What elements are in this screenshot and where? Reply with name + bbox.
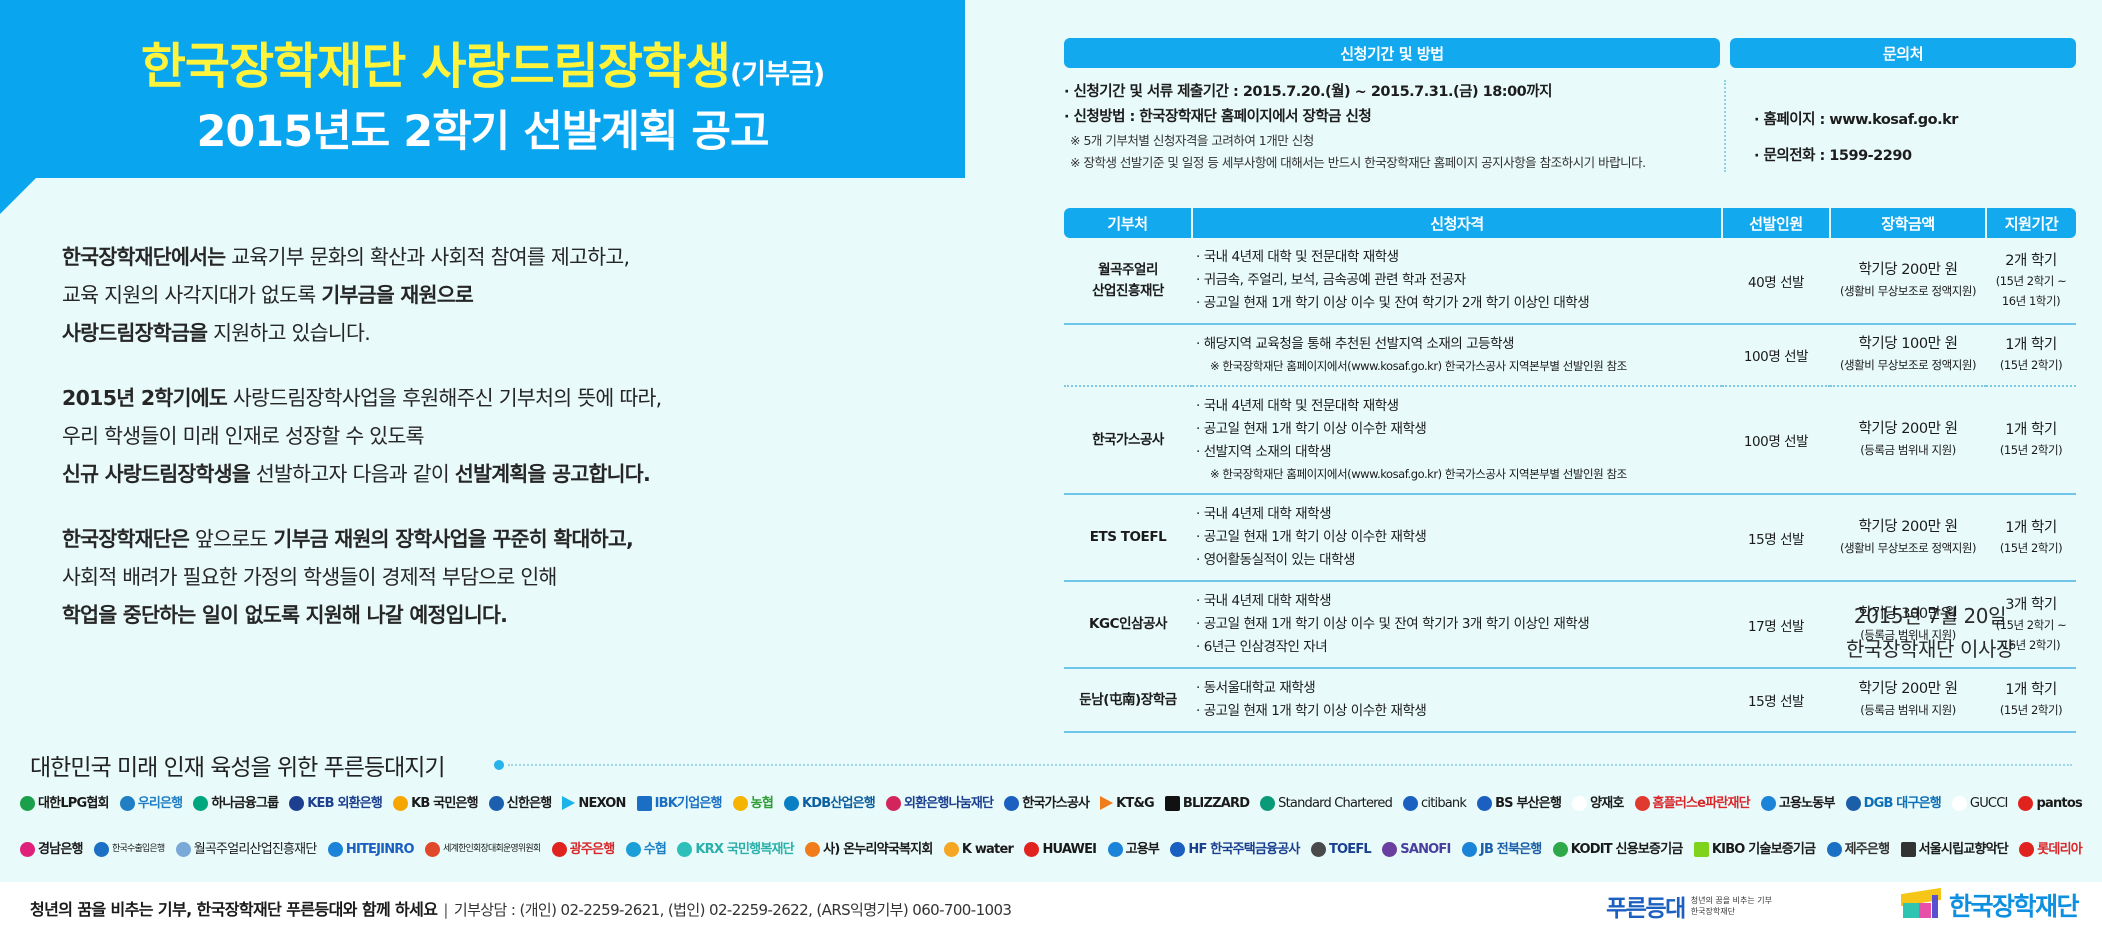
intro-span: 우리 학생들이 미래 인재로 성장할 수 있도록 [62,424,424,448]
sponsor-logo: KEB 외환은행 [289,796,382,811]
col-header-count: 선발인원 [1722,208,1830,238]
kosaf-brand-logo: 한국장학재단 [1901,887,2078,923]
sponsor-name: KIBO 기술보증기금 [1712,843,1815,856]
sponsor-mark-icon [176,842,191,857]
kosaf-wordmark: 한국장학재단 [1949,887,2078,923]
intro-span: 기부금을 재원으로 [321,283,473,307]
sponsor-name: HITEJINRO [346,843,414,856]
info-header-contact: 문의처 [1730,38,2076,68]
cell-donor: KGC인삼공사 [1064,581,1192,668]
title-main: 한국장학재단 사랑드림장학생 [141,38,730,95]
sponsor-logo: 고용노동부 [1761,796,1835,811]
sponsor-name: 대한LPG협회 [38,797,109,810]
title-banner: 한국장학재단 사랑드림장학생(기부금) 2015년도 2학기 선발계획 공고 [0,0,965,178]
amount-note: (등록금 범위내 지원) [1834,700,1982,721]
sponsor-logo: 하나금융그룹 [193,796,278,811]
sponsor-name: Standard Chartered [1278,797,1392,810]
sponsor-name: KB 국민은행 [411,797,478,810]
cell-count: 17명 선발 [1722,581,1830,668]
period-main: 2개 학기 [1990,251,2072,271]
sponsor-logo: HF 한국주택금융공사 [1170,842,1299,857]
sponsor-name: citibank [1421,797,1466,810]
sponsor-logo: Standard Chartered [1260,796,1392,811]
sponsor-logo: 롯데리아 [2019,842,2082,857]
intro-span: 사랑드림장학사업을 후원해주신 기부처의 뜻에 따라, [227,386,661,410]
sponsor-logo: 사) 온누리약국복지회 [805,842,932,857]
amount-main: 학기당 100만 원 [1834,334,1982,355]
intro-span: 선발하고자 다음과 같이 [250,462,455,486]
sponsor-logo: SANOFI [1382,842,1450,857]
sponsor-name: 고용부 [1126,843,1159,856]
sponsor-mark-icon [1901,842,1916,857]
sponsor-mark-icon [1846,796,1861,811]
sponsor-logo: citibank [1403,796,1466,811]
table-row: KGC인삼공사국내 4년제 대학 재학생공고일 현재 1개 학기 이상 이수 및… [1064,581,2076,668]
footer-text: 청년의 꿈을 비추는 기부, 한국장학재단 푸른등대와 함께 하세요|기부상담 … [30,896,1011,920]
sponsor-logo-row-2: 경남은행한국수출입은행월곡주얼리산업진흥재단HITEJINRO세계한인회장대회운… [20,832,2082,866]
intro-line: 2015년 2학기에도 사랑드림장학사업을 후원해주신 기부처의 뜻에 따라, [62,379,832,417]
sponsor-mark-icon [1165,796,1180,811]
cell-amount: 학기당 200만 원(생활비 무상보조로 정액지원) [1830,238,1986,324]
sponsor-mark-icon [1403,796,1418,811]
sponsor-logo: 수협 [626,842,666,857]
sponsor-name: K water [962,843,1013,856]
cell-donor: 한국가스공사 [1064,386,1192,494]
info-panel-body: · 신청기간 및 서류 제출기간 : 2015.7.20.(월) ~ 2015.… [1064,68,2076,174]
sponsor-name: 서울시립교향악단 [1919,843,2008,856]
sponsor-logo: 한국가스공사 [1004,796,1089,811]
title-line-2: 2015년도 2학기 선발계획 공고 [0,97,965,159]
sponsor-mark-icon [1952,796,1967,811]
sponsor-logo: HITEJINRO [328,842,414,857]
period-note: (15년 2학기) [1990,538,2072,558]
info-left-column: · 신청기간 및 서류 제출기간 : 2015.7.20.(월) ~ 2015.… [1064,80,1720,174]
footer-contact: 기부상담 : (개인) 02-2259-2621, (법인) 02-2259-2… [454,901,1011,919]
table-row: 해당지역 교육청을 통해 추천된 선발지역 소재의 고등학생한국장학재단 홈페이… [1064,324,2076,386]
qualification-item: 선발지역 소재의 대학생 [1196,441,1718,464]
qualification-item: 공고일 현재 1개 학기 이상 이수 및 잔여 학기가 2개 학기 이상인 대학… [1196,292,1718,315]
sponsor-name: IBK기업은행 [655,797,722,810]
intro-line: 학업을 중단하는 일이 없도록 지원해 나갈 예정입니다. [62,596,832,634]
sponsor-name: JB 전북은행 [1480,843,1542,856]
sponsor-name: 신한은행 [507,797,552,810]
cell-donor: 월곡주얼리산업진흥재단 [1064,238,1192,324]
amount-note: (생활비 무상보조로 정액지원) [1834,538,1982,559]
sponsor-logo: 고용부 [1108,842,1159,857]
sponsor-name: HF 한국주택금융공사 [1188,843,1299,856]
sponsor-mark-icon [1694,842,1709,857]
cell-qualification: 국내 4년제 대학 재학생공고일 현재 1개 학기 이상 이수 및 잔여 학기가… [1192,581,1722,668]
lighthouse-brand-logo: 푸른등대 청년의 꿈을 비추는 기부 한국장학재단 [1606,889,1772,923]
amount-note: (생활비 무상보조로 정액지원) [1834,281,1982,302]
intro-line: 우리 학생들이 미래 인재로 성장할 수 있도록 [62,417,832,455]
sponsor-bullet-dot [494,760,504,770]
period-note: (15년 2학기) [1990,700,2072,720]
sponsor-mark-icon [289,796,304,811]
info-note: ※ 장학생 선발기준 및 일정 등 세부사항에 대해서는 반드시 한국장학재단 … [1064,152,1708,174]
sponsor-name: TOEFL [1329,843,1371,856]
cell-qualification: 국내 4년제 대학 및 전문대학 재학생귀금속, 주얼리, 보석, 금속공예 관… [1192,238,1722,324]
sponsor-logo: 홈플러스e파란재단 [1635,796,1750,811]
col-header-qualification: 신청자격 [1192,208,1722,238]
sponsor-logo: GUCCI [1952,796,2008,811]
contact-line: · 홈페이지 : www.kosaf.go.kr [1754,102,2076,138]
sponsor-mark-icon [552,842,567,857]
sponsor-name: DGB 대구은행 [1864,797,1941,810]
cell-qualification: 해당지역 교육청을 통해 추천된 선발지역 소재의 고등학생한국장학재단 홈페이… [1192,324,1722,386]
cell-amount: 학기당 200만 원(생활비 무상보조로 정액지원) [1830,494,1986,581]
sponsor-name: 제주은행 [1845,843,1890,856]
cell-period: 1개 학기(15년 2학기) [1986,386,2076,494]
sponsor-mark-icon [193,796,208,811]
sponsor-mark-icon [944,842,959,857]
amount-note: (등록금 범위내 지원) [1834,440,1982,461]
intro-paragraph: 한국장학재단에서는 교육기부 문화의 확산과 사회적 참여를 제고하고,교육 지… [62,238,832,352]
period-note: (15년 2학기) [1990,440,2072,460]
qualification-item: 국내 4년제 대학 재학생 [1196,590,1718,613]
sponsor-mark-icon [489,796,504,811]
intro-span: 교육 지원의 사각지대가 없도록 [62,283,321,307]
sponsor-logo: KT&G [1100,796,1154,810]
footer-slogan: 청년의 꿈을 비추는 기부, 한국장학재단 푸른등대와 함께 하세요 [30,900,437,919]
qualification-item: 국내 4년제 대학 및 전문대학 재학생 [1196,246,1718,269]
sponsor-name: 수협 [644,843,666,856]
sponsor-logo: 대한LPG협회 [20,796,109,811]
sponsor-mark-icon [94,842,109,857]
period-note: (15년 2학기 ~ [1990,615,2072,635]
intro-text: 한국장학재단에서는 교육기부 문화의 확산과 사회적 참여를 제고하고,교육 지… [62,238,832,634]
sponsor-logo: DGB 대구은행 [1846,796,1941,811]
cell-count: 100명 선발 [1722,324,1830,386]
application-info-panel: 신청기간 및 방법 문의처 · 신청기간 및 서류 제출기간 : 2015.7.… [1064,38,2076,174]
intro-line: 신규 사랑드림장학생을 선발하고자 다음과 같이 선발계획을 공고합니다. [62,455,832,493]
footer-separator: | [437,901,453,919]
sponsor-mark-icon [1024,842,1039,857]
qualification-item: 영어활동실적이 있는 대학생 [1196,549,1718,572]
sponsor-mark-icon [1462,842,1477,857]
sponsor-name: 고용노동부 [1779,797,1835,810]
sponsor-logo: KDB산업은행 [784,796,875,811]
period-note: (15년 2학기) [1990,355,2072,375]
cell-period: 1개 학기(15년 2학기) [1986,494,2076,581]
sponsor-name: 양재호 [1590,797,1623,810]
period-main: 1개 학기 [1990,420,2072,440]
contact-line: · 문의전화 : 1599-2290 [1754,138,2076,174]
sponsor-mark-icon [1311,842,1326,857]
cell-period: 1개 학기(15년 2학기) [1986,668,2076,732]
intro-span: 한국장학재단은 [62,527,189,551]
cell-amount: 학기당 300만 원(등록금 범위내 지원) [1830,581,1986,668]
table-row: 한국가스공사국내 4년제 대학 및 전문대학 재학생공고일 현재 1개 학기 이… [1064,386,2076,494]
cell-donor: 둔남(屯南)장학금 [1064,668,1192,732]
table-header-row: 기부처 신청자격 선발인원 장학금액 지원기간 [1064,208,2076,238]
qualification-item: 공고일 현재 1개 학기 이상 이수한 재학생 [1196,700,1718,723]
sponsor-mark-icon [1100,796,1113,810]
qualification-item: 공고일 현재 1개 학기 이상 이수한 재학생 [1196,526,1718,549]
sponsor-mark-icon [626,842,641,857]
sponsor-logo: KODIT 신용보증기금 [1553,842,1683,857]
sponsor-mark-icon [805,842,820,857]
sponsor-mark-icon [1170,842,1185,857]
sponsor-logo: TOEFL [1311,842,1371,857]
qualification-item: 국내 4년제 대학 및 전문대학 재학생 [1196,395,1718,418]
col-header-period: 지원기간 [1986,208,2076,238]
intro-span: 학업을 중단하는 일이 없도록 지원해 나갈 예정입니다. [62,603,507,627]
sponsor-mark-icon [562,796,575,810]
sponsor-logo: IBK기업은행 [637,796,722,811]
sponsor-logo: KIBO 기술보증기금 [1694,842,1815,857]
sponsor-name: BLIZZARD [1183,797,1249,810]
sponsor-name: 우리은행 [138,797,183,810]
amount-main: 학기당 200만 원 [1834,419,1982,440]
intro-line: 교육 지원의 사각지대가 없도록 기부금을 재원으로 [62,276,832,314]
qualification-item: 해당지역 교육청을 통해 추천된 선발지역 소재의 고등학생 [1196,333,1718,356]
cell-period: 3개 학기(15년 2학기 ~16년 2학기) [1986,581,2076,668]
sponsor-name: SANOFI [1400,843,1450,856]
cell-qualification: 국내 4년제 대학 재학생공고일 현재 1개 학기 이상 이수한 재학생영어활동… [1192,494,1722,581]
sponsor-mark-icon [1260,796,1275,811]
table-body: 월곡주얼리산업진흥재단국내 4년제 대학 및 전문대학 재학생귀금속, 주얼리,… [1064,238,2076,732]
title-suffix: (기부금) [730,59,824,90]
sponsor-logo: 한국수출입은행 [94,842,164,857]
info-bullet: · 신청방법 : 한국장학재단 홈페이지에서 장학금 신청 [1064,105,1708,130]
cell-qualification: 국내 4년제 대학 및 전문대학 재학생공고일 현재 1개 학기 이상 이수한 … [1192,386,1722,494]
cell-period: 2개 학기(15년 2학기 ~16년 1학기) [1986,238,2076,324]
sponsor-logo: KB 국민은행 [393,796,478,811]
sponsor-logo: NEXON [562,796,625,810]
intro-line: 한국장학재단은 앞으로도 기부금 재원의 장학사업을 꾸준히 확대하고, [62,520,832,558]
intro-span: 기부금 재원의 장학사업을 꾸준히 확대하고, [273,527,633,551]
sponsor-mark-icon [886,796,901,811]
cell-qualification: 동서울대학교 재학생공고일 현재 1개 학기 이상 이수한 재학생 [1192,668,1722,732]
sponsor-heading: 대한민국 미래 인재 육성을 위한 푸른등대지기 [30,748,445,782]
sponsor-name: 외환은행나눔재단 [904,797,993,810]
amount-main: 학기당 200만 원 [1834,679,1982,700]
sponsor-mark-icon [2018,796,2033,811]
sponsor-mark-icon [20,842,35,857]
sponsor-section: 대한민국 미래 인재 육성을 위한 푸른등대지기 대한LPG협회우리은행하나금융… [0,742,2102,882]
sponsor-name: 한국수출입은행 [112,845,164,854]
col-header-amount: 장학금액 [1830,208,1986,238]
sponsor-name: 하나금융그룹 [211,797,278,810]
sponsor-dashed-rule [508,764,2072,766]
period-main: 1개 학기 [1990,680,2072,700]
sponsor-mark-icon [1827,842,1842,857]
info-panel-headers: 신청기간 및 방법 문의처 [1064,38,2076,68]
sponsor-name: 사) 온누리약국복지회 [823,843,932,856]
sponsor-mark-icon [120,796,135,811]
table-row: 월곡주얼리산업진흥재단국내 4년제 대학 및 전문대학 재학생귀금속, 주얼리,… [1064,238,2076,324]
donor-line: 월곡주얼리 [1068,260,1188,281]
info-right-column: · 홈페이지 : www.kosaf.go.kr· 문의전화 : 1599-22… [1730,80,2076,174]
sponsor-logo: BS 부산은행 [1477,796,1561,811]
sponsor-mark-icon [1004,796,1019,811]
sponsor-logo-row-1: 대한LPG협회우리은행하나금융그룹KEB 외환은행KB 국민은행신한은행NEXO… [20,786,2082,820]
sponsor-name: 롯데리아 [2037,843,2082,856]
period-main: 1개 학기 [1990,518,2072,538]
title-line-1: 한국장학재단 사랑드림장학생(기부금) [0,27,965,98]
cell-count: 15명 선발 [1722,494,1830,581]
sponsor-logo: 외환은행나눔재단 [886,796,993,811]
cell-donor: ETS TOEFL [1064,494,1192,581]
amount-main: 학기당 200만 원 [1834,260,1982,281]
sponsor-mark-icon [733,796,748,811]
intro-line: 사랑드림장학금을 지원하고 있습니다. [62,314,832,352]
cell-count: 100명 선발 [1722,386,1830,494]
sponsor-name: pantos [2036,797,2081,810]
donor-line: KGC인삼공사 [1068,614,1188,635]
sponsor-logo: 서울시립교향악단 [1901,842,2008,857]
intro-span: 지원하고 있습니다. [207,321,370,345]
period-note: 16년 2학기) [1990,635,2072,655]
sponsor-mark-icon [1108,842,1123,857]
sponsor-mark-icon [1761,796,1776,811]
qualification-item: 귀금속, 주얼리, 보석, 금속공예 관련 학과 전공자 [1196,269,1718,292]
info-column-divider [1720,80,1730,174]
sponsor-name: KODIT 신용보증기금 [1571,843,1683,856]
sponsor-mark-icon [1553,842,1568,857]
period-note: (15년 2학기 ~ [1990,271,2072,291]
cell-period: 1개 학기(15년 2학기) [1986,324,2076,386]
lighthouse-wordmark: 푸른등대 [1606,889,1685,923]
donor-line: 한국가스공사 [1068,430,1188,451]
amount-main: 학기당 300만 원 [1834,604,1982,625]
sponsor-mark-icon [425,842,440,857]
sponsor-mark-icon [2019,842,2034,857]
sponsor-logo: 농협 [733,796,773,811]
period-note: 16년 1학기) [1990,291,2072,311]
qualification-item: 국내 4년제 대학 재학생 [1196,503,1718,526]
lighthouse-tagline: 청년의 꿈을 비추는 기부 한국장학재단 [1691,895,1772,917]
donor-line: 산업진흥재단 [1068,281,1188,302]
intro-span: 선발계획을 공고합니다. [455,462,650,486]
cell-donor [1064,324,1192,386]
sponsor-logo: 우리은행 [120,796,183,811]
sponsor-logo: JB 전북은행 [1462,842,1542,857]
sponsor-mark-icon [1477,796,1492,811]
sponsor-mark-icon [1572,796,1587,811]
intro-span: 2015년 2학기에도 [62,386,227,410]
sponsor-logo: BLIZZARD [1165,796,1249,811]
sponsor-logo: 세계한인회장대회운영위원회 [425,842,540,857]
sponsor-name: 홈플러스e파란재단 [1653,797,1750,810]
intro-span: 사랑드림장학금을 [62,321,207,345]
sponsor-name: BS 부산은행 [1495,797,1561,810]
table-row: ETS TOEFL국내 4년제 대학 재학생공고일 현재 1개 학기 이상 이수… [1064,494,2076,581]
sponsor-name: HUAWEI [1042,843,1096,856]
sponsor-name: 경남은행 [38,843,83,856]
sponsor-mark-icon [393,796,408,811]
sponsor-logo: 경남은행 [20,842,83,857]
info-bullet: · 신청기간 및 서류 제출기간 : 2015.7.20.(월) ~ 2015.… [1064,80,1708,105]
sponsor-name: 농협 [751,797,773,810]
scholarship-table: 기부처 신청자격 선발인원 장학금액 지원기간 월곡주얼리산업진흥재단국내 4년… [1064,208,2076,733]
info-header-gap [1720,38,1730,68]
sponsor-name: 한국가스공사 [1022,797,1089,810]
qualification-item: 공고일 현재 1개 학기 이상 이수 및 잔여 학기가 3개 학기 이상인 재학… [1196,613,1718,636]
sponsor-name: 월곡주얼리산업진흥재단 [194,843,317,856]
sponsor-logo: 양재호 [1572,796,1623,811]
sponsor-logo: K water [944,842,1013,857]
sponsor-logo: 월곡주얼리산업진흥재단 [176,842,317,857]
sponsor-name: NEXON [578,797,625,810]
sponsor-name: KDB산업은행 [802,797,875,810]
qualification-item: 6년근 인삼경작인 자녀 [1196,636,1718,659]
intro-line: 사회적 배려가 필요한 가정의 학생들이 경제적 부담으로 인해 [62,558,832,596]
donor-line: 둔남(屯南)장학금 [1068,690,1188,711]
sponsor-mark-icon [637,796,652,811]
graduation-cap-icon [1901,891,1941,919]
sponsor-logo: 제주은행 [1827,842,1890,857]
intro-line: 한국장학재단에서는 교육기부 문화의 확산과 사회적 참여를 제고하고, [62,238,832,276]
intro-span: 앞으로도 [189,527,273,551]
intro-span: 한국장학재단에서는 [62,245,225,269]
title-corner-notch [0,178,36,214]
qualification-item: 동서울대학교 재학생 [1196,677,1718,700]
cell-count: 15명 선발 [1722,668,1830,732]
intro-paragraph: 한국장학재단은 앞으로도 기부금 재원의 장학사업을 꾸준히 확대하고,사회적 … [62,520,832,634]
sponsor-mark-icon [784,796,799,811]
sponsor-logo: HUAWEI [1024,842,1096,857]
sponsor-mark-icon [677,842,692,857]
amount-note: (등록금 범위내 지원) [1834,625,1982,646]
intro-span: 신규 사랑드림장학생을 [62,462,250,486]
period-main: 3개 학기 [1990,595,2072,615]
qualification-item: 공고일 현재 1개 학기 이상 이수한 재학생 [1196,418,1718,441]
sponsor-name: KRX 국민행복재단 [695,843,793,856]
sponsor-mark-icon [1382,842,1397,857]
sponsor-mark-icon [328,842,343,857]
sponsor-logo: 광주은행 [552,842,615,857]
cell-amount: 학기당 100만 원(생활비 무상보조로 정액지원) [1830,324,1986,386]
intro-span: 사회적 배려가 필요한 가정의 학생들이 경제적 부담으로 인해 [62,565,557,589]
cell-amount: 학기당 200만 원(등록금 범위내 지원) [1830,668,1986,732]
sponsor-logo: 신한은행 [489,796,552,811]
poster-root: 한국장학재단 사랑드림장학생(기부금) 2015년도 2학기 선발계획 공고 한… [0,0,2102,930]
sponsor-logo: KRX 국민행복재단 [677,842,793,857]
period-main: 1개 학기 [1990,335,2072,355]
table-row: 둔남(屯南)장학금동서울대학교 재학생공고일 현재 1개 학기 이상 이수한 재… [1064,668,2076,732]
sponsor-logo: pantos [2018,796,2081,811]
footer-bar: 청년의 꿈을 비추는 기부, 한국장학재단 푸른등대와 함께 하세요|기부상담 … [0,882,2102,930]
amount-main: 학기당 200만 원 [1834,517,1982,538]
col-header-donor: 기부처 [1064,208,1192,238]
info-note: ※ 5개 기부처별 신청자격을 고려하여 1개만 신청 [1064,130,1708,152]
sponsor-name: KT&G [1116,797,1154,810]
cell-count: 40명 선발 [1722,238,1830,324]
sponsor-name: KEB 외환은행 [307,797,382,810]
intro-paragraph: 2015년 2학기에도 사랑드림장학사업을 후원해주신 기부처의 뜻에 따라,우… [62,379,832,493]
info-header-period: 신청기간 및 방법 [1064,38,1720,68]
sponsor-mark-icon [1635,796,1650,811]
qualification-note: 한국장학재단 홈페이지에서(www.kosaf.go.kr) 한국가스공사 지역… [1196,464,1718,485]
sponsor-mark-icon [20,796,35,811]
cell-amount: 학기당 200만 원(등록금 범위내 지원) [1830,386,1986,494]
qualification-note: 한국장학재단 홈페이지에서(www.kosaf.go.kr) 한국가스공사 지역… [1196,356,1718,377]
intro-span: 교육기부 문화의 확산과 사회적 참여를 제고하고, [225,245,629,269]
donor-line: ETS TOEFL [1068,527,1188,548]
sponsor-name: 광주은행 [570,843,615,856]
sponsor-name: 세계한인회장대회운영위원회 [443,845,540,854]
sponsor-name: GUCCI [1970,797,2008,810]
amount-note: (생활비 무상보조로 정액지원) [1834,355,1982,376]
